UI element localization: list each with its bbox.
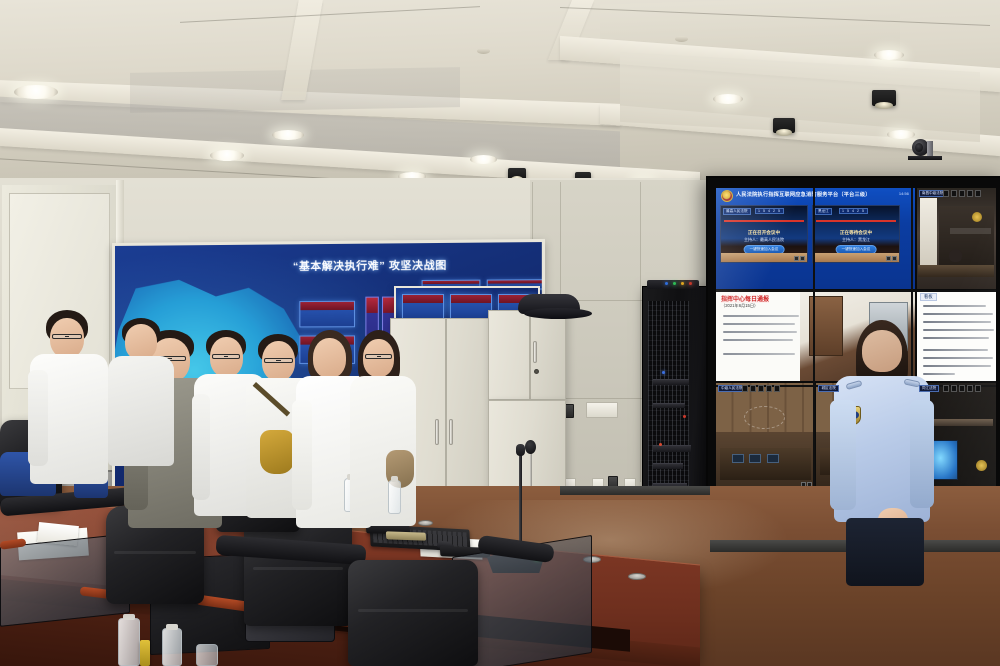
pane-hud-icons[interactable]	[886, 256, 897, 261]
platform-time: 14:56	[899, 191, 909, 196]
rack-indicator	[689, 282, 692, 285]
glasses	[264, 358, 293, 363]
board-card	[402, 294, 444, 320]
tile-conference-platform[interactable]: 人民法院执行指挥互联网应急消防服务平台（平台三级） 14:56 最高人民法院 1…	[716, 188, 915, 289]
rack-indicator	[673, 282, 676, 285]
tile-report-panel[interactable]: 看板	[917, 291, 996, 382]
board-card	[450, 294, 492, 320]
floor-mic-head	[525, 440, 536, 454]
feed-desk	[918, 265, 994, 277]
sanitizer-bottle[interactable]	[162, 628, 182, 666]
feed-3-label: 城区法院	[818, 385, 838, 392]
report-text-line	[923, 365, 991, 368]
ceiling-downlight	[470, 155, 497, 164]
wall-seam	[640, 182, 641, 482]
arm	[910, 400, 934, 508]
glasses	[365, 354, 392, 359]
court-emblem-icon	[972, 212, 982, 222]
feed-monitor	[732, 454, 744, 463]
report-text-line	[923, 321, 991, 324]
report-text-line	[923, 329, 994, 332]
screen-bezel	[813, 188, 815, 488]
ceiling-spotlight	[872, 90, 896, 106]
pane-divider	[816, 220, 895, 222]
rack-unit	[653, 403, 685, 408]
conference-pane-2-subject: 主持人：黑龙江	[813, 237, 899, 243]
ceiling-downlight	[210, 150, 244, 161]
bulletin-text-line	[723, 323, 795, 326]
conference-pane-1[interactable]: 最高人民法院 1 5 4 2 5 正在召开会议中 主持人：最高人民法院 一键快速…	[720, 205, 808, 263]
board-card	[299, 301, 355, 328]
torso	[108, 356, 174, 466]
report-text-line	[923, 313, 993, 316]
rack-unit	[653, 379, 689, 385]
bulletin-title: 指挥中心每日通报	[721, 294, 769, 303]
rack-indicator	[665, 282, 668, 285]
shoulder-bag	[260, 430, 294, 474]
conference-pane-2-label: 黑龙江	[815, 208, 832, 215]
rack-indicator	[659, 443, 662, 446]
arm	[292, 400, 312, 510]
bulletin-text-line	[723, 353, 795, 356]
feed-4-label: 同江法院	[919, 385, 939, 392]
kanban-label: 看板	[920, 293, 937, 301]
tile-camera-feed-1[interactable]: 南昌中级法院	[917, 188, 996, 289]
screen-bezel	[716, 290, 996, 292]
water-bottle[interactable]	[196, 644, 218, 666]
cable-grommet	[628, 573, 646, 580]
baseboard	[560, 486, 710, 495]
rack-indicator	[662, 371, 665, 374]
water-bottle[interactable]	[388, 480, 401, 514]
ceiling-downlight	[874, 50, 904, 60]
conference-pane-2-status: 正在等待会议中	[813, 230, 899, 236]
cabinet-upper[interactable]	[488, 310, 566, 400]
pane-hud-icons[interactable]	[794, 256, 805, 261]
office-chair[interactable]	[244, 516, 352, 626]
ceiling-downlight	[14, 85, 58, 99]
report-text-line	[923, 349, 988, 352]
platform-title: 人民法院执行指挥互联网应急消防服务平台（平台三级）	[736, 191, 911, 198]
bulletin-text-line	[723, 331, 797, 334]
rack-unit	[653, 445, 691, 452]
camera-lens	[915, 143, 923, 152]
bulletin-date: （2021年6月15日）	[721, 303, 758, 309]
officer-uniform-skirt	[846, 518, 924, 586]
feed-monitor	[767, 454, 779, 463]
feed-person	[949, 249, 962, 262]
glasses	[212, 354, 240, 359]
rack-indicator	[683, 415, 686, 418]
camera-mount	[927, 141, 933, 157]
microphone-head	[516, 444, 525, 456]
conference-pane-1-status: 正在召开会议中	[721, 230, 807, 236]
glasses	[52, 334, 82, 339]
court-emblem-icon	[721, 190, 733, 202]
court-emblem-icon	[976, 460, 987, 471]
conference-pane-1-subject: 主持人：最高人民法院	[721, 237, 807, 243]
feed-4-code-icons	[943, 385, 981, 392]
report-text-line	[923, 305, 986, 308]
command-center-photo: “基本解决执行难” 攻坚决战图	[0, 0, 1000, 666]
rack-indicator	[681, 282, 684, 285]
conference-pane-2[interactable]: 黑龙江 1 5 4 2 5 正在等待会议中 主持人：黑龙江 一键快速加入会议	[812, 205, 900, 263]
ptz-camera	[908, 139, 942, 159]
feed-1-caption	[950, 228, 991, 234]
yellow-marker[interactable]	[140, 640, 150, 666]
ceiling-downlight	[887, 130, 915, 139]
sanitizer-bottle[interactable]	[118, 618, 140, 666]
smoke-detector	[477, 48, 490, 54]
bulletin-text-line	[723, 315, 799, 318]
arm	[28, 370, 48, 466]
ceiling-spotlight	[773, 118, 795, 133]
remote-control-tan[interactable]	[386, 531, 426, 540]
feed-room-door	[920, 198, 937, 270]
ceiling-downlight	[272, 130, 304, 140]
feed-2-code-icons	[742, 385, 780, 392]
arm	[192, 394, 210, 500]
conference-pane-1-code: 1 5 4 2 5	[755, 208, 784, 214]
report-text-line	[923, 373, 955, 376]
head	[313, 338, 346, 378]
ceiling-downlight	[713, 94, 743, 104]
wall-control-plate	[586, 402, 618, 418]
rack-unit	[653, 463, 683, 469]
office-chair[interactable]	[348, 560, 478, 666]
bulletin-text-line	[723, 339, 793, 342]
feed-1-code-icons	[943, 190, 981, 197]
pane-divider	[724, 220, 803, 222]
cable-grommet	[418, 520, 433, 526]
conference-pane-1-label: 最高人民法院	[723, 208, 751, 215]
head	[862, 330, 902, 372]
report-text-line	[923, 337, 989, 340]
black-cap	[518, 294, 580, 314]
smoke-detector	[675, 36, 688, 42]
camera-feed-2[interactable]: 中级人民法院	[716, 383, 814, 488]
head	[125, 324, 157, 360]
report-text-line	[923, 357, 993, 360]
arm	[830, 400, 856, 510]
feed-room-wall	[939, 206, 994, 266]
camera-base	[908, 156, 942, 160]
conference-pane-2-code: 1 5 4 2 5	[839, 208, 868, 214]
feed-monitor	[749, 454, 761, 463]
